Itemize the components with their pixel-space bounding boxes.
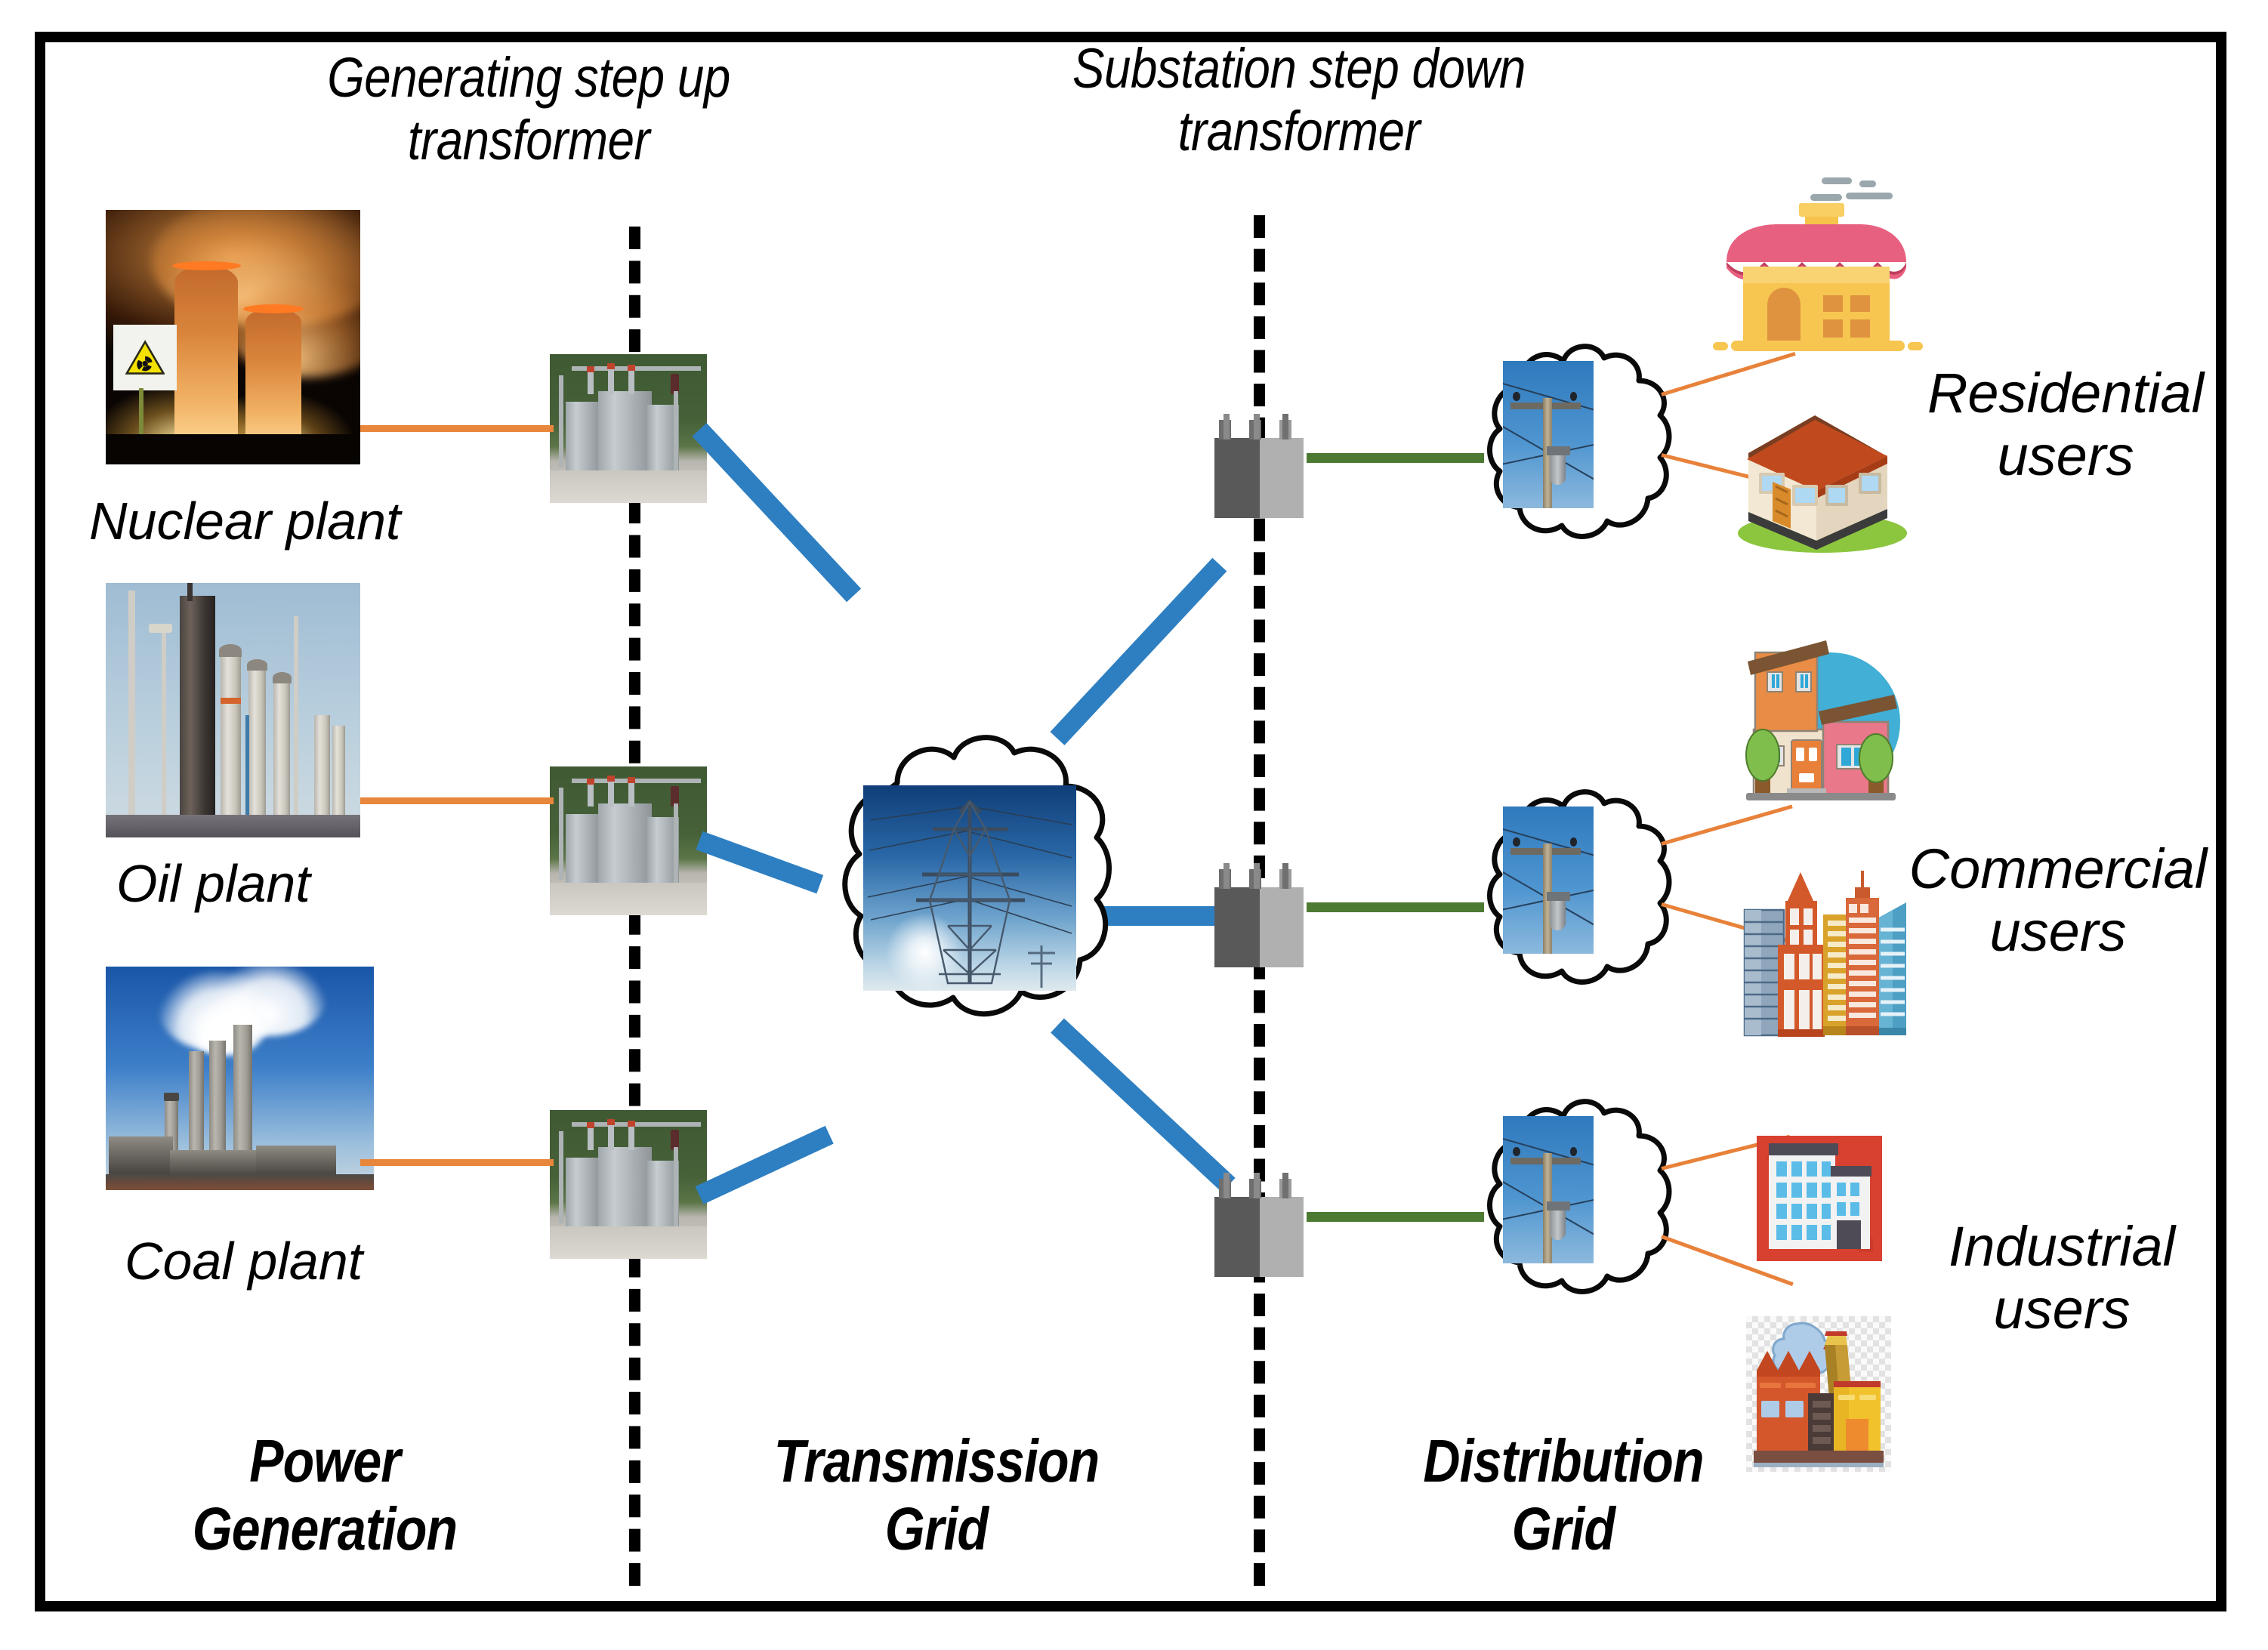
industrial-users-label-line1: Industrial — [1888, 1216, 2236, 1278]
section-label-line1: Transmission — [738, 1427, 1136, 1495]
nuclear-plant-photo — [106, 210, 360, 464]
oil-plant-photo — [106, 583, 360, 837]
coal-plant-photo — [106, 967, 374, 1190]
diagram-canvas: Generating step up transformer Substatio… — [0, 0, 2268, 1650]
section-label-line2: Grid — [1365, 1495, 1763, 1563]
residential-users-label: Residential users — [1888, 362, 2243, 488]
header-step-down-transformer: Substation step down transformer — [1065, 38, 1532, 163]
step-up-transformer-2 — [550, 766, 707, 915]
section-label-power-generation: Power Generation — [145, 1427, 505, 1562]
section-label-line2: Generation — [145, 1495, 505, 1563]
office-building-icon — [1757, 1136, 1882, 1261]
wire-nuclear-to-transformer — [360, 425, 554, 432]
residential-users-label-line1: Residential — [1888, 362, 2243, 425]
residential-users-label-line2: users — [1888, 425, 2243, 488]
commercial-users-label: Commercial users — [1881, 838, 2236, 964]
transmission-tower-photo — [863, 785, 1076, 991]
wire-coal-to-transformer — [360, 1159, 554, 1166]
step-down-transformer-3 — [1207, 1167, 1313, 1280]
step-down-transformer-1 — [1207, 408, 1313, 521]
step-down-transformer-2 — [1207, 857, 1313, 970]
header-step-up-transformer: Generating step up transformer — [321, 47, 736, 172]
step-up-transformer-3 — [550, 1110, 707, 1259]
nuclear-plant-label: Nuclear plant — [89, 491, 400, 551]
section-label-line1: Distribution — [1365, 1427, 1763, 1495]
factory-icon-canvas — [1746, 1316, 1891, 1472]
utility-pole-photo-commercial — [1503, 806, 1594, 954]
utility-pole-photo-residential — [1503, 361, 1594, 508]
wire-substation2-to-pole — [1307, 902, 1484, 912]
shop-building-icon — [1734, 633, 1908, 806]
cottage-house-icon — [1708, 170, 1927, 374]
wire-substation1-to-pole — [1307, 453, 1484, 463]
section-label-line2: Grid — [738, 1495, 1136, 1563]
step-up-transformer-1 — [550, 354, 707, 503]
coal-plant-label: Coal plant — [125, 1231, 363, 1291]
isometric-house-icon — [1726, 406, 1915, 557]
section-label-transmission-grid: Transmission Grid — [738, 1427, 1136, 1562]
industrial-users-label: Industrial users — [1888, 1216, 2236, 1341]
section-label-distribution-grid: Distribution Grid — [1365, 1427, 1763, 1562]
wire-substation3-to-pole — [1307, 1212, 1484, 1222]
utility-pole-photo-industrial — [1503, 1116, 1594, 1263]
factory-icon — [1746, 1316, 1891, 1472]
commercial-users-label-line1: Commercial — [1881, 838, 2236, 901]
section-label-line1: Power — [145, 1427, 505, 1495]
commercial-users-label-line2: users — [1881, 901, 2236, 964]
radiation-warning-icon — [125, 335, 165, 381]
industrial-users-label-line2: users — [1888, 1278, 2236, 1341]
wire-oil-to-transformer — [360, 797, 554, 804]
oil-plant-label: Oil plant — [116, 853, 310, 914]
